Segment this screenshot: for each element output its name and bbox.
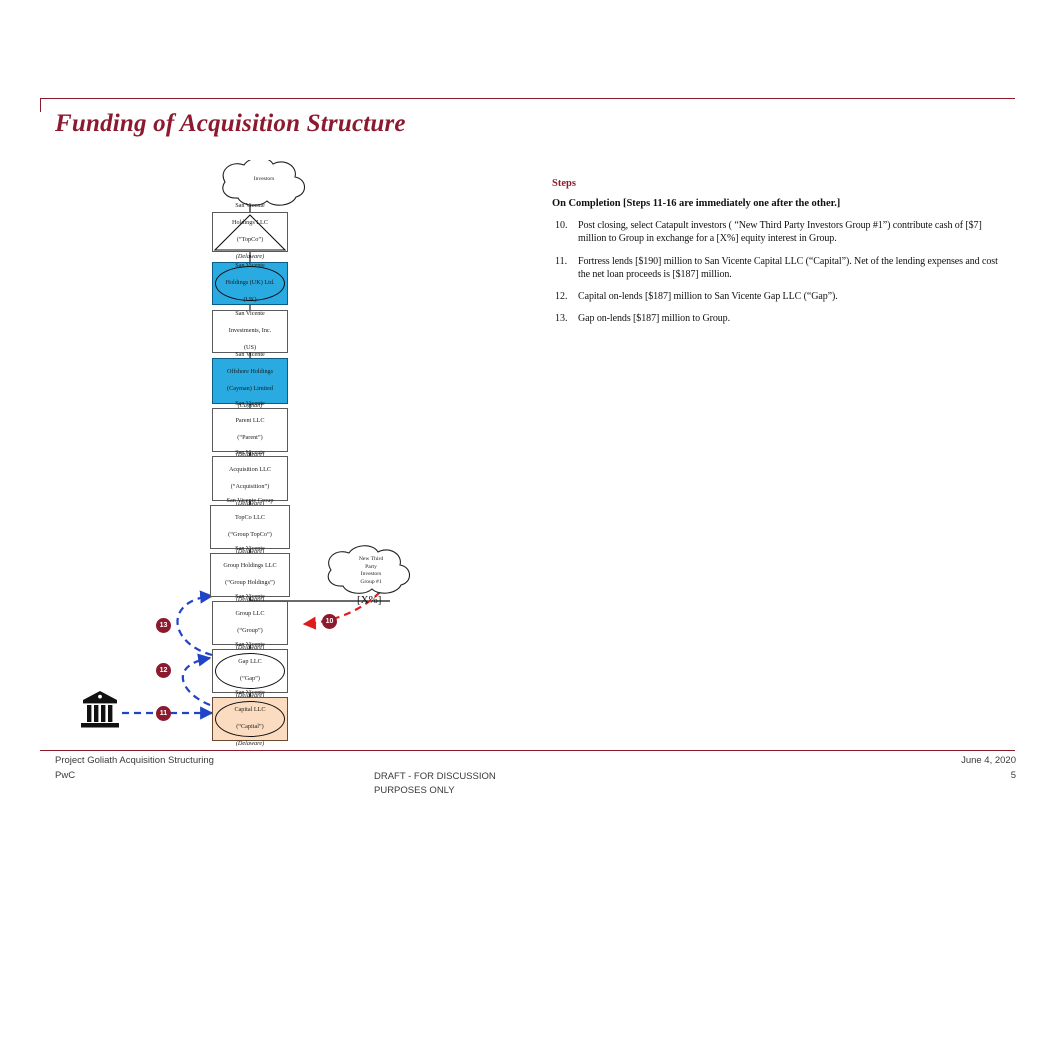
footer-divider <box>40 750 1015 751</box>
step-badge-13[interactable]: 13 <box>156 618 171 633</box>
entity-acquisition-llc[interactable]: San Vicente Acquisition LLC (“Acquisitio… <box>212 456 288 501</box>
investors-cloud-label: Investors <box>228 176 300 184</box>
step-item-11: 11. Fortress lends [$190] million to San… <box>552 255 1012 282</box>
step-number: 12. <box>552 290 578 303</box>
equity-percent-label: [X%] <box>357 594 381 606</box>
entity-group-holdings-llc[interactable]: San Vicente Group Holdings LLC (“Group H… <box>210 553 290 597</box>
steps-heading: Steps <box>552 178 1012 189</box>
step-number: 11. <box>552 255 578 282</box>
step-number: 10. <box>552 219 578 246</box>
third-party-investors-cloud-label: New Third Party Investors Group #1 <box>332 556 410 586</box>
header-left-tick <box>40 98 41 112</box>
step-badge-11[interactable]: 11 <box>156 706 171 721</box>
step-text: Fortress lends [$190] million to San Vic… <box>578 255 1012 282</box>
entity-parent-llc[interactable]: San Vicente Parent LLC (“Parent”) (Delaw… <box>212 408 288 452</box>
slide-canvas: Funding of Acquisition Structure <box>0 0 1056 800</box>
entity-capital-llc[interactable]: San Vicente Capital LLC (“Capital”) (Del… <box>212 697 288 741</box>
entity-gap-llc[interactable]: San Vicente Gap LLC (“Gap”) (Delaware) <box>212 649 288 693</box>
step-item-13: 13. Gap on-lends [$187] million to Group… <box>552 312 1012 325</box>
entity-offshore-holdings-cayman[interactable]: San Vicente Offshore Holdings (Cayman) L… <box>212 358 288 404</box>
step-item-12: 12. Capital on-lends [$187] million to S… <box>552 290 1012 303</box>
org-structure-diagram: Investors New Third Party Investors Grou… <box>60 160 520 750</box>
entity-investments-inc[interactable]: San Vicente Investments, Inc. (US) <box>212 310 288 353</box>
footer-date-and-page: June 4, 2020 5 <box>961 754 1016 783</box>
entity-group-topco-llc[interactable]: San Vicente Group TopCo LLC (“Group TopC… <box>210 505 290 549</box>
steps-subheading: On Completion [Steps 11-16 are immediate… <box>552 198 1012 209</box>
step-text: Gap on-lends [$187] million to Group. <box>578 312 1012 325</box>
footer-draft-notice: DRAFT - FOR DISCUSSION PURPOSES ONLY <box>374 770 496 799</box>
diagram-connectors <box>60 160 520 750</box>
entity-group-llc[interactable]: San Vicente Group LLC (“Group”) (Delawar… <box>212 601 288 645</box>
step-number: 13. <box>552 312 578 325</box>
step-badge-12[interactable]: 12 <box>156 663 171 678</box>
step-text: Capital on-lends [$187] million to San V… <box>578 290 1012 303</box>
steps-panel: Steps On Completion [Steps 11-16 are imm… <box>552 178 1012 335</box>
entity-holdings-uk[interactable]: San Vicente Holdings (UK) Ltd. (UK) <box>212 262 288 305</box>
bank-icon <box>81 691 119 728</box>
page-title: Funding of Acquisition Structure <box>55 110 406 138</box>
step-item-10: 10. Post closing, select Catapult invest… <box>552 219 1012 246</box>
header-divider <box>40 98 1015 99</box>
entity-topco[interactable]: San Vicente Holdings LLC (“TopCo”) (Dela… <box>212 212 288 252</box>
step-text: Post closing, select Catapult investors … <box>578 219 1012 246</box>
step-badge-10[interactable]: 10 <box>322 614 337 629</box>
footer-left-text: Project Goliath Acquisition Structuring … <box>55 754 214 783</box>
